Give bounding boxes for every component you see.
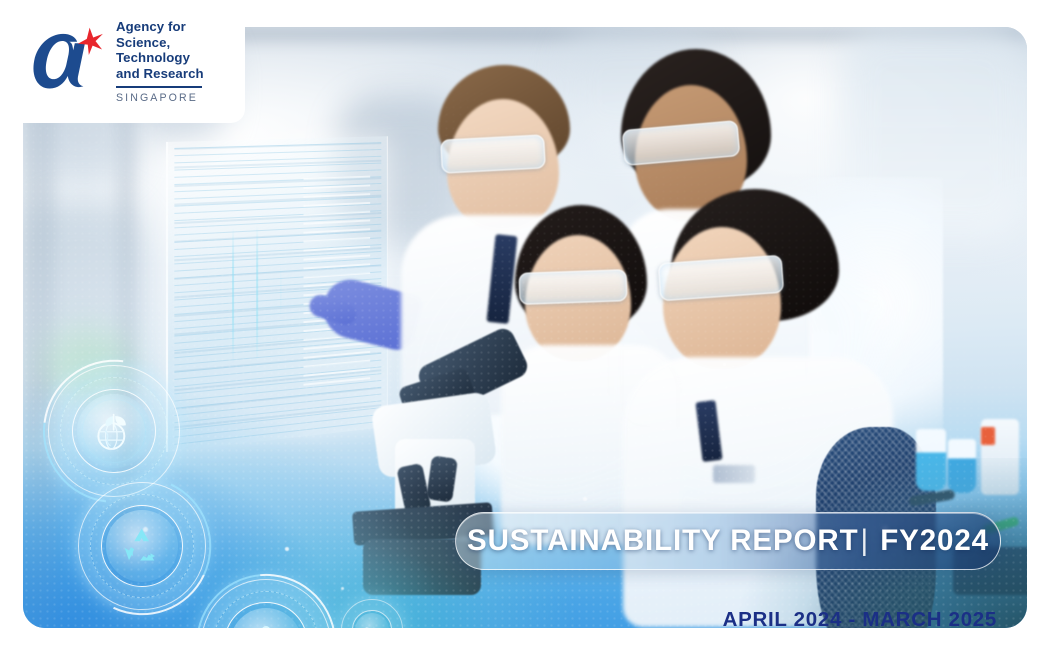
sparkle: [341, 587, 344, 590]
report-title-banner: SUSTAINABILITY REPORT| FY2024: [455, 512, 1001, 570]
report-title-main: SUSTAINABILITY REPORT: [467, 524, 859, 557]
astar-logo-mark: [28, 26, 106, 98]
people-group-icon: [242, 620, 290, 628]
logo-divider: [116, 86, 202, 88]
sparkle: [723, 363, 726, 366]
astar-logo-panel: Agency for Science, Technology and Resea…: [0, 0, 245, 123]
hud-core: [106, 510, 178, 582]
report-title-fiscal-year: FY2024: [880, 524, 989, 557]
report-cover-page: Agency for Science, Technology and Resea…: [0, 0, 1049, 660]
hud-handshake: [341, 599, 403, 628]
globe-leaf-icon: [90, 407, 139, 456]
report-title-separator: |: [859, 524, 872, 557]
hud-people: [201, 579, 331, 628]
sparkle: [583, 497, 587, 501]
report-title-text: SUSTAINABILITY REPORT| FY2024: [467, 524, 989, 558]
sparkle: [285, 547, 289, 551]
logo-subtitle: SINGAPORE: [116, 92, 245, 104]
handshake-icon: [361, 619, 384, 628]
hud-globe-leaf: [48, 365, 180, 497]
reporting-period-label: APRIL 2024 - MARCH 2025: [723, 608, 997, 632]
hud-core: [77, 394, 151, 468]
recycle-icon: [118, 522, 165, 569]
a-star-wordmark-icon: [28, 26, 106, 98]
logo-title: Agency for Science, Technology and Resea…: [116, 19, 245, 81]
astar-logo-text: Agency for Science, Technology and Resea…: [116, 19, 245, 104]
hud-recycle: [78, 482, 206, 610]
